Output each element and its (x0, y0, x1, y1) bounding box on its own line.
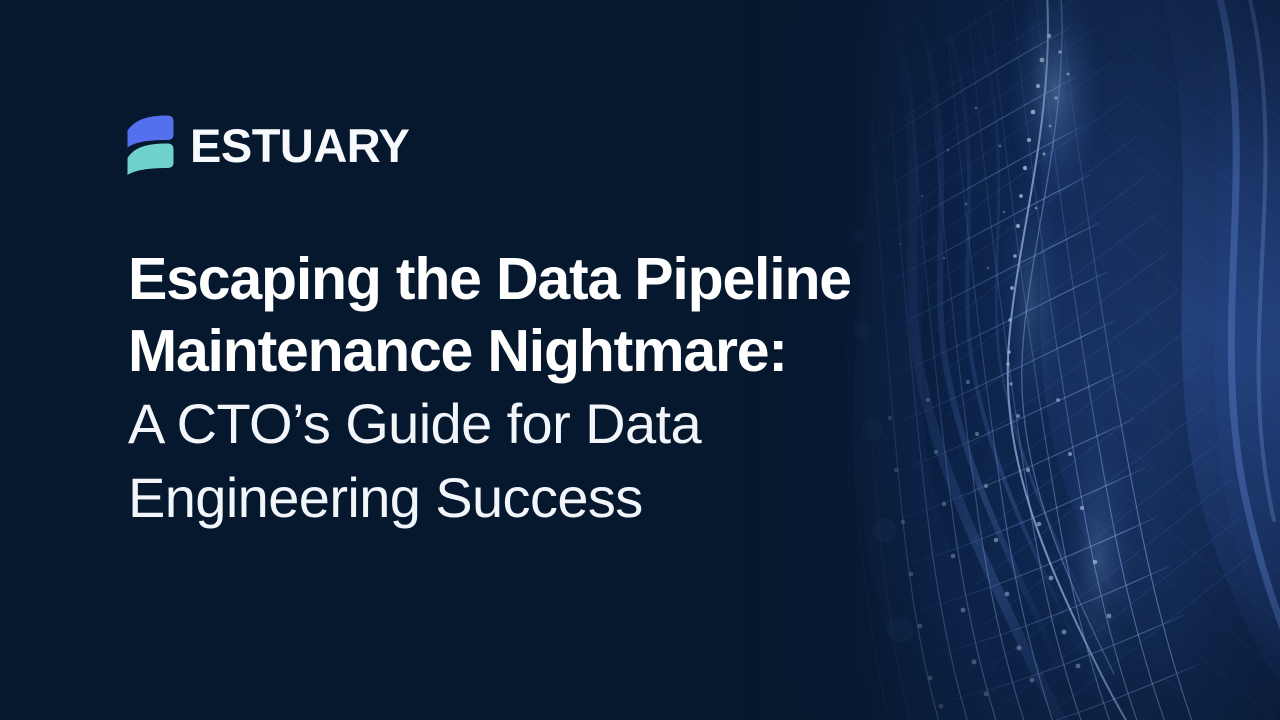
hero-subtitle-line-1: A CTO’s Guide for Data (128, 387, 1128, 461)
hero-subtitle-line-2: Engineering Success (128, 461, 1128, 535)
hero-banner: ESTUARY Escaping the Data Pipeline Maint… (0, 0, 1280, 720)
estuary-wave-logo-icon (126, 114, 176, 176)
hero-text-block: Escaping the Data Pipeline Maintenance N… (128, 243, 1128, 535)
hero-title-line-2: Maintenance Nightmare: (128, 315, 1128, 387)
brand-logo[interactable]: ESTUARY (126, 114, 409, 176)
hero-title-line-1: Escaping the Data Pipeline (128, 243, 1128, 315)
brand-wordmark: ESTUARY (190, 122, 409, 169)
